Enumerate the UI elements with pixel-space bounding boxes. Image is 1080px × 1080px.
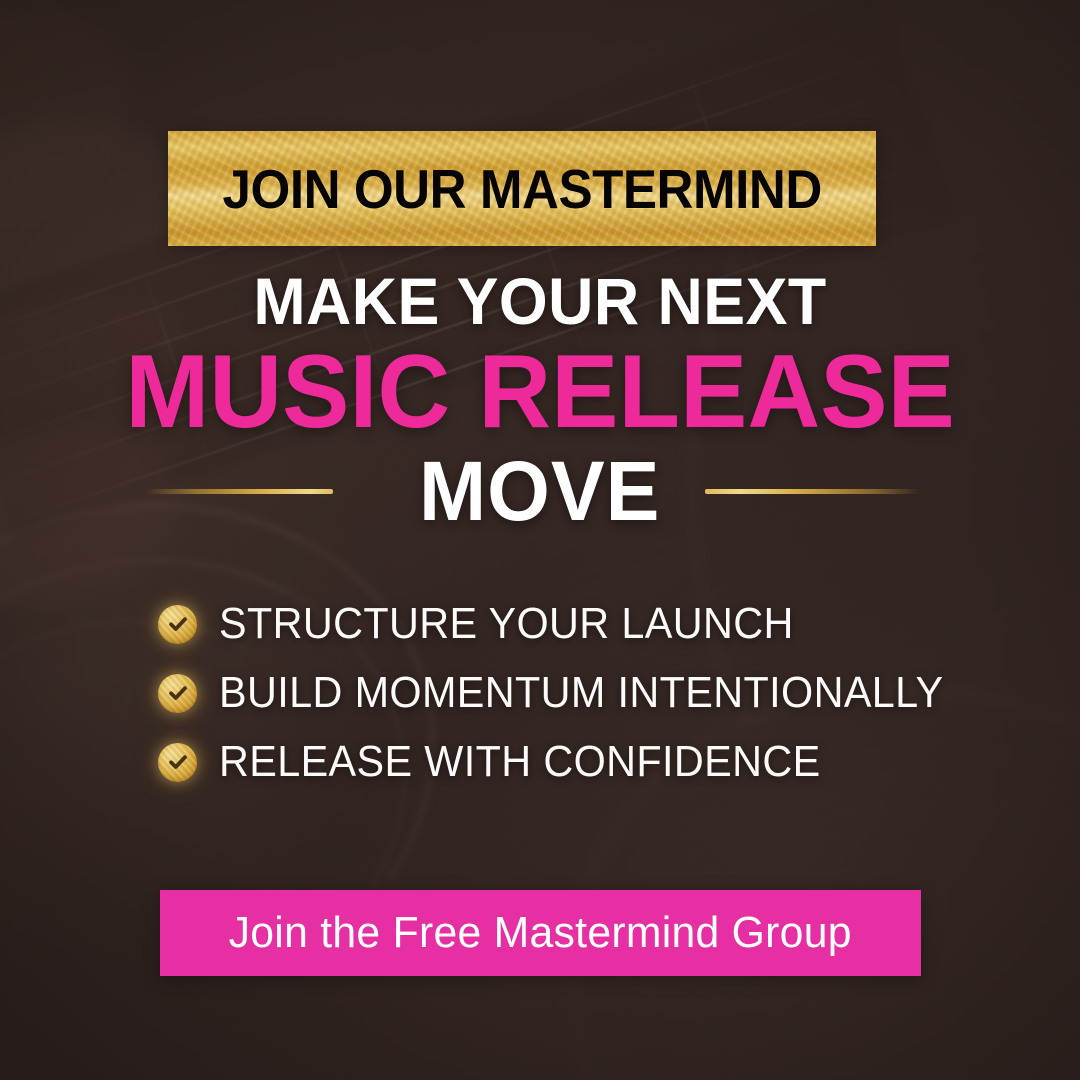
gold-divider-right	[705, 489, 920, 494]
list-item-label: BUILD MOMENTUM INTENTIONALLY	[219, 668, 943, 718]
list-item: BUILD MOMENTUM INTENTIONALLY	[158, 667, 990, 719]
join-mastermind-button[interactable]: Join the Free Mastermind Group	[160, 890, 921, 976]
headline-line-2: MUSIC RELEASE	[16, 340, 1064, 444]
check-circle-icon	[158, 743, 197, 782]
gold-banner-label: JOIN OUR MASTERMIND	[222, 157, 821, 221]
headline-block: MAKE YOUR NEXT MUSIC RELEASE MOVE	[0, 268, 1080, 536]
list-item-label: STRUCTURE YOUR LAUNCH	[219, 599, 794, 649]
benefits-list: STRUCTURE YOUR LAUNCH BUILD MOMENTUM INT…	[158, 598, 990, 805]
headline-line-1: MAKE YOUR NEXT	[27, 268, 1053, 334]
headline-line-3: MOVE	[419, 449, 660, 533]
check-circle-icon	[158, 674, 197, 713]
gold-divider-left	[145, 489, 333, 494]
list-item: STRUCTURE YOUR LAUNCH	[158, 598, 990, 650]
list-item-label: RELEASE WITH CONFIDENCE	[219, 737, 821, 787]
headline-line-3-row: MOVE	[0, 446, 1080, 536]
check-circle-icon	[158, 605, 197, 644]
promo-poster: JOIN OUR MASTERMIND MAKE YOUR NEXT MUSIC…	[0, 0, 1080, 1080]
gold-banner: JOIN OUR MASTERMIND	[168, 131, 876, 246]
join-mastermind-button-label: Join the Free Mastermind Group	[229, 908, 852, 958]
list-item: RELEASE WITH CONFIDENCE	[158, 736, 990, 788]
poster-content: JOIN OUR MASTERMIND MAKE YOUR NEXT MUSIC…	[0, 0, 1080, 1080]
